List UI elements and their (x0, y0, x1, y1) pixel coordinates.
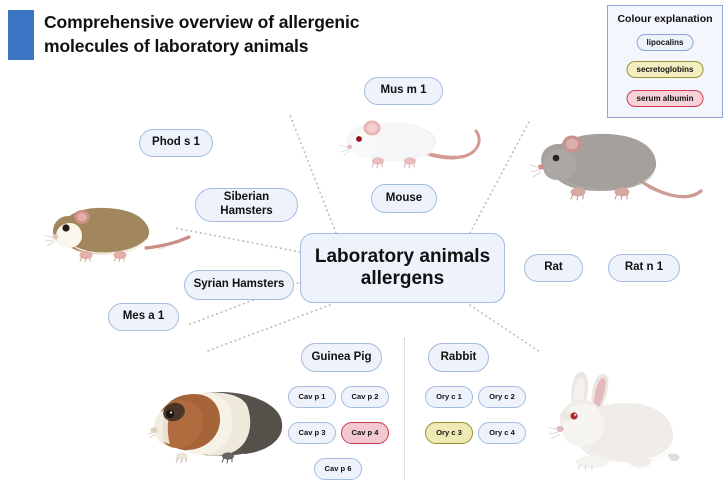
mouse-illustration (340, 112, 485, 178)
legend-heading: Colour explanation (608, 13, 722, 25)
page-title-line-2: molecules of laboratory animals (44, 34, 374, 58)
guinea-pig-illustration (148, 378, 293, 468)
legend-box: Colour explanation lipocalins secretoglo… (607, 5, 723, 118)
node-ory-c-4[interactable]: Ory c 4 (478, 422, 526, 444)
node-cav-p-4[interactable]: Cav p 4 (341, 422, 389, 444)
node-rat[interactable]: Rat (524, 254, 583, 282)
rat-illustration (530, 122, 705, 212)
node-ory-c-3[interactable]: Ory c 3 (425, 422, 473, 444)
group-divider (404, 338, 405, 480)
title-accent-bar (8, 10, 34, 60)
page-title: Comprehensive overview of allergenic mol… (44, 10, 374, 58)
node-syrian-hamsters[interactable]: Syrian Hamsters (184, 270, 294, 300)
hamster-illustration (42, 188, 192, 278)
node-ory-c-1[interactable]: Ory c 1 (425, 386, 473, 408)
node-cav-p-6[interactable]: Cav p 6 (314, 458, 362, 480)
node-rabbit[interactable]: Rabbit (428, 343, 489, 372)
node-mouse[interactable]: Mouse (371, 184, 437, 213)
legend-item-serum-albumin: serum albumin (627, 90, 704, 107)
node-cav-p-3[interactable]: Cav p 3 (288, 422, 336, 444)
legend-item-secretoglobins: secretoglobins (627, 61, 704, 78)
node-rat-n-1[interactable]: Rat n 1 (608, 254, 680, 282)
node-mus-m-1[interactable]: Mus m 1 (364, 77, 443, 105)
central-node-laboratory-animals-allergens[interactable]: Laboratory animals allergens (300, 233, 505, 303)
diagram-canvas: Comprehensive overview of allergenic mol… (0, 0, 728, 483)
connector-mouse (290, 115, 336, 233)
node-ory-c-2[interactable]: Ory c 2 (478, 386, 526, 408)
connector-siberian-hamster (175, 228, 300, 252)
node-cav-p-1[interactable]: Cav p 1 (288, 386, 336, 408)
node-cav-p-2[interactable]: Cav p 2 (341, 386, 389, 408)
node-guinea-pig[interactable]: Guinea Pig (301, 343, 382, 372)
page-title-line-1: Comprehensive overview of allergenic (44, 10, 374, 34)
node-mes-a-1[interactable]: Mes a 1 (108, 303, 179, 331)
rabbit-illustration (540, 370, 690, 475)
node-siberian-hamsters[interactable]: Siberian Hamsters (195, 188, 298, 222)
node-phod-s-1[interactable]: Phod s 1 (139, 129, 213, 157)
legend-item-lipocalins: lipocalins (637, 34, 694, 51)
